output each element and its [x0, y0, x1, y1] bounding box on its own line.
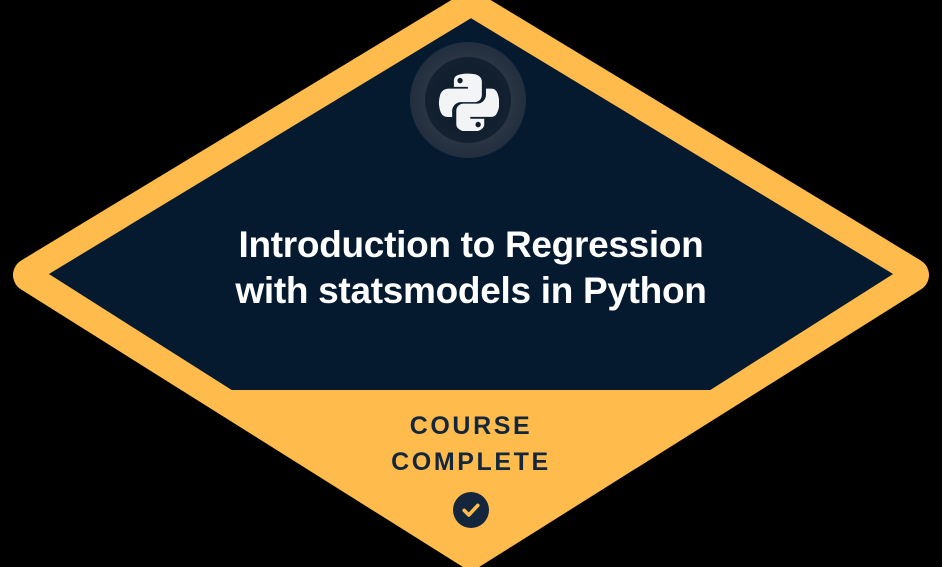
- check-circle-icon: [453, 492, 489, 528]
- course-title: Introduction to Regression with statsmod…: [111, 222, 831, 314]
- status-line-2: COMPLETE: [241, 444, 701, 480]
- python-logo-icon: [437, 69, 499, 131]
- course-title-line-2: with statsmodels in Python: [111, 268, 831, 314]
- status-line-1: COURSE: [241, 408, 701, 444]
- badge-canvas: Introduction to Regression with statsmod…: [0, 0, 942, 567]
- course-title-line-1: Introduction to Regression: [111, 222, 831, 268]
- status-label: COURSE COMPLETE: [241, 408, 701, 480]
- completion-status: COURSE COMPLETE: [241, 408, 701, 528]
